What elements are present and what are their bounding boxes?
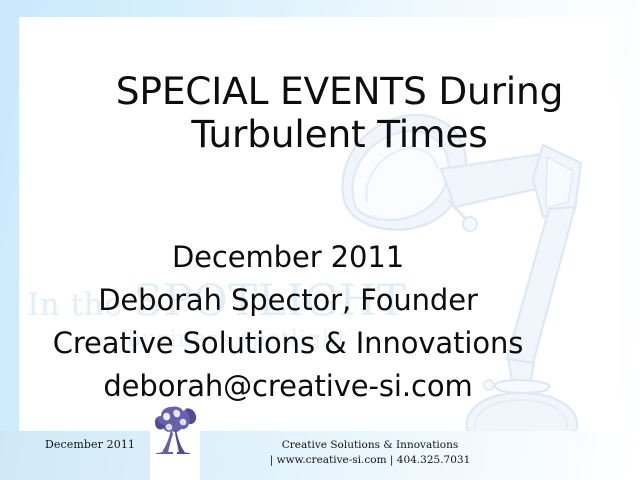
body-line-date: December 2011 [47,236,529,279]
slide-body: December 2011 Deborah Spector, Founder C… [47,236,529,408]
footer-logo-container [150,405,200,480]
body-line-email: deborah@creative-si.com [47,365,529,408]
footer-organization: Creative Solutions & Innovations | www.c… [205,438,535,468]
footer-date: December 2011 [30,438,150,451]
body-line-company: Creative Solutions & Innovations [47,322,529,365]
slide-title: SPECIAL EVENTS During Turbulent Times [47,70,632,156]
slide-canvas: In the SPOTLIGHT business spotlight [19,17,619,459]
footer-org-name: Creative Solutions & Innovations [205,438,535,453]
creative-solutions-tree-logo-icon [151,405,199,457]
presentation-slide: In the SPOTLIGHT business spotlight [0,0,640,480]
footer-org-contact: | www.creative-si.com | 404.325.7031 [205,453,535,468]
body-line-presenter: Deborah Spector, Founder [47,279,529,322]
